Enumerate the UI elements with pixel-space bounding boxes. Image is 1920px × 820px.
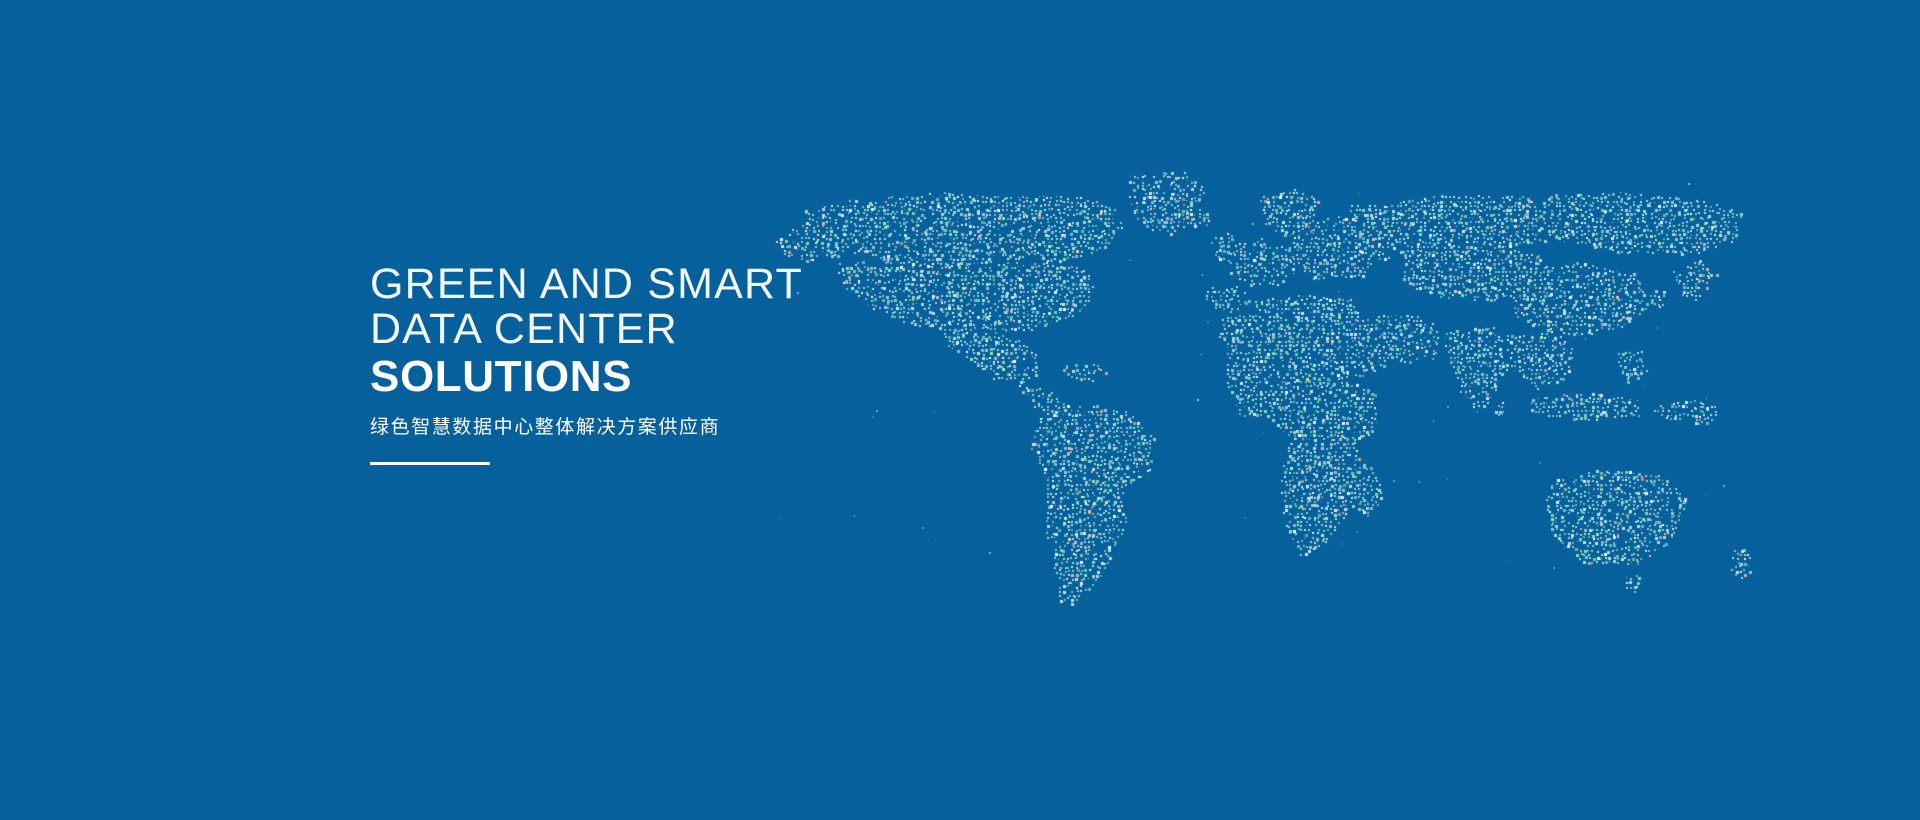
headline-line-2: DATA CENTER bbox=[370, 307, 1150, 352]
headline-block: GREEN AND SMART DATA CENTER SOLUTIONS 绿色… bbox=[370, 262, 1150, 465]
headline-line-3: SOLUTIONS bbox=[370, 352, 1150, 402]
headline-line-1: GREEN AND SMART bbox=[370, 262, 1150, 307]
divider-rule bbox=[370, 462, 490, 465]
subtitle-text: 绿色智慧数据中心整体解决方案供应商 bbox=[370, 416, 1150, 440]
hero-banner: GREEN AND SMART DATA CENTER SOLUTIONS 绿色… bbox=[0, 0, 1920, 820]
